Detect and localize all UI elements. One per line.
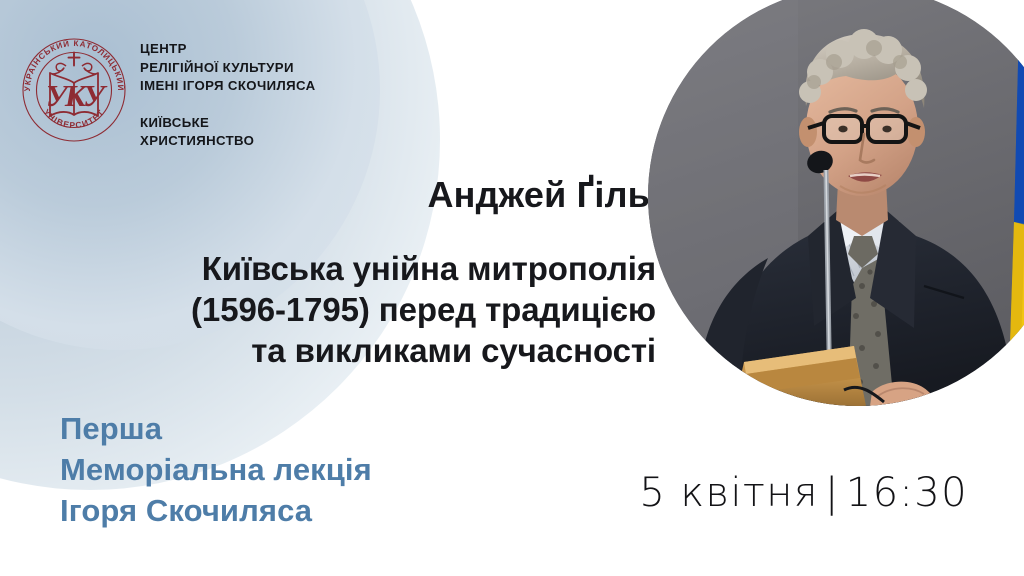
lecture-title-line-1: Київська унійна митрополія: [30, 248, 656, 289]
organization-text-block: ЦЕНТР РЕЛІГІЙНОЇ КУЛЬТУРИ ІМЕНІ ІГОРЯ СК…: [140, 40, 400, 151]
program-line-1: КИЇВСЬКЕ: [140, 114, 400, 133]
schedule-datetime: 5 квітня|16:30: [639, 470, 968, 516]
series-line-1: Перша: [60, 408, 372, 449]
schedule-time: 16:30: [846, 470, 968, 516]
ucu-emblem-icon: УКРАЇНСЬКИЙ КАТОЛИЦЬКИЙ УНІВЕРСИТЕТ: [14, 30, 134, 150]
schedule-separator: |: [819, 470, 846, 516]
center-line-3: ІМЕНІ ІГОРЯ СКОЧИЛЯСА: [140, 77, 400, 96]
speaker-name: Анджей Ґіль: [180, 174, 650, 216]
series-line-2: Меморіальна лекція: [60, 449, 372, 490]
svg-text:УКУ: УКУ: [46, 78, 108, 113]
lecture-title-line-3: та викликами сучасності: [30, 330, 656, 371]
speaker-photo: [648, 0, 1024, 406]
org-spacer: [140, 96, 400, 114]
program-line-2: ХРИСТИЯНСТВО: [140, 132, 400, 151]
series-line-3: Ігоря Скочиляса: [60, 490, 372, 531]
lecture-title: Київська унійна митрополія (1596-1795) п…: [30, 248, 656, 371]
lecture-series-block: Перша Меморіальна лекція Ігоря Скочиляса: [60, 408, 372, 531]
event-poster: УКРАЇНСЬКИЙ КАТОЛИЦЬКИЙ УНІВЕРСИТЕТ: [0, 0, 1024, 576]
lecture-title-line-2: (1596-1795) перед традицією: [30, 289, 656, 330]
center-line-2: РЕЛІГІЙНОЇ КУЛЬТУРИ: [140, 59, 400, 78]
schedule-date: 5 квітня: [639, 470, 818, 516]
center-line-1: ЦЕНТР: [140, 40, 400, 59]
